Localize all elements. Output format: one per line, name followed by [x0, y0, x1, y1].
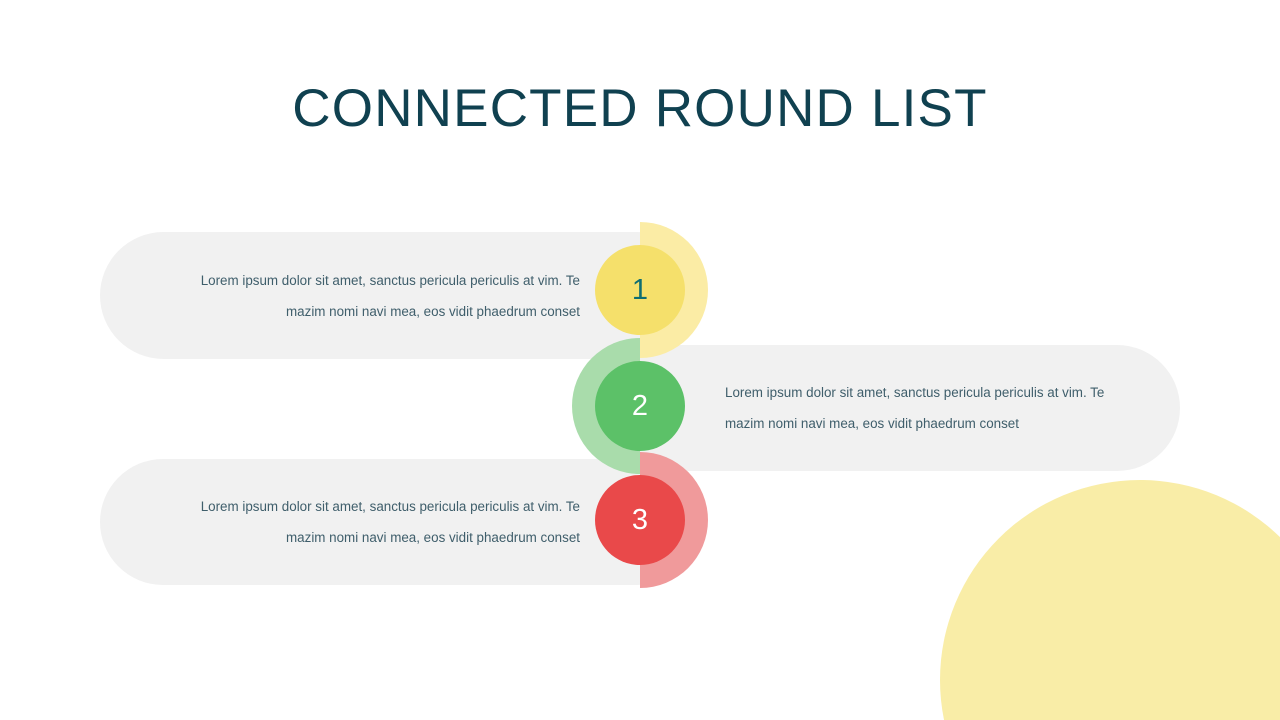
step-number-badge-3[interactable]: 3: [595, 475, 685, 565]
slide-canvas: CONNECTED ROUND LIST Lorem ipsum dolor s…: [0, 0, 1280, 720]
step-card-3-text: Lorem ipsum dolor sit amet, sanctus peri…: [180, 491, 580, 553]
step-card-2-text: Lorem ipsum dolor sit amet, sanctus peri…: [725, 377, 1110, 439]
step-number-badge-1[interactable]: 1: [595, 245, 685, 335]
step-card-1-text: Lorem ipsum dolor sit amet, sanctus peri…: [180, 265, 580, 327]
page-title: CONNECTED ROUND LIST: [0, 78, 1280, 139]
corner-decoration-shape: [940, 480, 1280, 720]
step-number-badge-2[interactable]: 2: [595, 361, 685, 451]
